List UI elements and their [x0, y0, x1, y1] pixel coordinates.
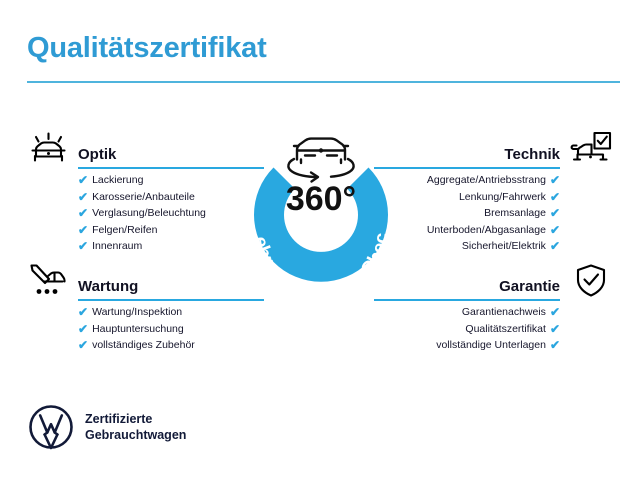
- check-icon: ✔: [78, 207, 88, 219]
- list-item: Qualitätszertifikat✔: [403, 321, 560, 338]
- check-icon: ✔: [550, 191, 560, 203]
- check-icon: ✔: [550, 207, 560, 219]
- list-item-label: Innenraum: [92, 238, 142, 255]
- check-icon: ✔: [550, 323, 560, 335]
- list-item-label: Garantienachweis: [462, 304, 546, 321]
- check-icon: ✔: [550, 306, 560, 318]
- section-title-optik: Optik: [78, 146, 116, 163]
- brand-line-1: Zertifizierte: [85, 412, 152, 426]
- shield-check-icon: [569, 262, 613, 300]
- badge-center-label: 360°: [286, 180, 356, 218]
- list-item: ✔Hauptuntersuchung: [78, 321, 237, 338]
- list-item-label: Lenkung/Fahrwerk: [459, 189, 546, 206]
- checklist-optik: ✔Lackierung ✔Karosserie/Anbauteile ✔Verg…: [78, 172, 237, 255]
- check-icon: ✔: [550, 224, 560, 236]
- section-garantie: Garantie Garantienachweis✔ Qualitätszert…: [403, 262, 613, 354]
- car-lift-check-icon: [569, 130, 613, 168]
- list-item: Garantienachweis✔: [403, 304, 560, 321]
- car-rotation-icon: [288, 139, 353, 182]
- section-wartung: Wartung ✔Wartung/Inspektion ✔Hauptunters…: [27, 262, 237, 354]
- list-item-label: Bremsanlage: [484, 205, 546, 222]
- list-item: Unterboden/Abgasanlage✔: [403, 222, 560, 239]
- section-title-wartung: Wartung: [78, 278, 138, 295]
- list-item: ✔Felgen/Reifen: [78, 222, 237, 239]
- list-item-label: vollständiges Zubehör: [92, 337, 195, 354]
- check-icon: ✔: [78, 339, 88, 351]
- section-title-technik: Technik: [504, 146, 560, 163]
- list-item: Lenkung/Fahrwerk✔: [403, 189, 560, 206]
- section-technik: Technik Aggregate/Antriebsstrang✔ Lenkun…: [403, 130, 613, 255]
- certificate-page: Qualitätszertifikat: [0, 0, 640, 480]
- vw-logo-icon: [28, 404, 74, 450]
- section-optik: Optik ✔Lackierung ✔Karosserie/Anbauteile…: [27, 130, 237, 255]
- list-item: ✔Wartung/Inspektion: [78, 304, 237, 321]
- section-title-garantie: Garantie: [499, 278, 560, 295]
- check-icon: ✔: [78, 191, 88, 203]
- check-icon: ✔: [550, 339, 560, 351]
- check-icon: ✔: [78, 224, 88, 236]
- brand-lockup: Zertifizierte Gebrauchtwagen: [28, 404, 186, 450]
- list-item-label: Lackierung: [92, 172, 143, 189]
- section-header-garantie: Garantie: [403, 262, 613, 304]
- check-icon: ✔: [78, 323, 88, 335]
- list-item: ✔Karosserie/Anbauteile: [78, 189, 237, 206]
- brand-line-2: Gebrauchtwagen: [85, 428, 186, 442]
- check-icon: ✔: [78, 306, 88, 318]
- list-item-label: Verglasung/Beleuchtung: [92, 205, 206, 222]
- list-item-label: Unterboden/Abgasanlage: [427, 222, 546, 239]
- section-header-wartung: Wartung: [27, 262, 237, 304]
- shiny-car-icon: [27, 130, 71, 168]
- list-item: ✔vollständiges Zubehör: [78, 337, 237, 354]
- list-item-label: Aggregate/Antriebsstrang: [427, 172, 546, 189]
- title-divider: [27, 81, 620, 83]
- list-item: ✔Lackierung: [78, 172, 237, 189]
- list-item-label: Sicherheit/Elektrik: [462, 238, 546, 255]
- list-item: ✔Verglasung/Beleuchtung: [78, 205, 237, 222]
- check-icon: ✔: [78, 240, 88, 252]
- list-item: Sicherheit/Elektrik✔: [403, 238, 560, 255]
- brand-text: Zertifizierte Gebrauchtwagen: [85, 411, 186, 443]
- check-icon: ✔: [550, 240, 560, 252]
- checklist-wartung: ✔Wartung/Inspektion ✔Hauptuntersuchung ✔…: [78, 304, 237, 354]
- list-item-label: Hauptuntersuchung: [92, 321, 184, 338]
- section-header-technik: Technik: [403, 130, 613, 172]
- wrench-car-icon: [27, 262, 71, 300]
- list-item: Aggregate/Antriebsstrang✔: [403, 172, 560, 189]
- list-item: vollständige Unterlagen✔: [403, 337, 560, 354]
- checklist-technik: Aggregate/Antriebsstrang✔ Lenkung/Fahrwe…: [403, 172, 560, 255]
- list-item-label: Felgen/Reifen: [92, 222, 157, 239]
- list-item-label: Qualitätszertifikat: [465, 321, 546, 338]
- checklist-garantie: Garantienachweis✔ Qualitätszertifikat✔ v…: [403, 304, 560, 354]
- list-item-label: Wartung/Inspektion: [92, 304, 182, 321]
- badge-360-gebrauchtwagen-check: Gebrauchtwagen-Check 360°: [231, 126, 411, 316]
- list-item: ✔Innenraum: [78, 238, 237, 255]
- check-icon: ✔: [550, 174, 560, 186]
- check-icon: ✔: [78, 174, 88, 186]
- list-item: Bremsanlage✔: [403, 205, 560, 222]
- list-item-label: Karosserie/Anbauteile: [92, 189, 195, 206]
- page-title: Qualitätszertifikat: [27, 32, 267, 65]
- list-item-label: vollständige Unterlagen: [436, 337, 546, 354]
- section-header-optik: Optik: [27, 130, 237, 172]
